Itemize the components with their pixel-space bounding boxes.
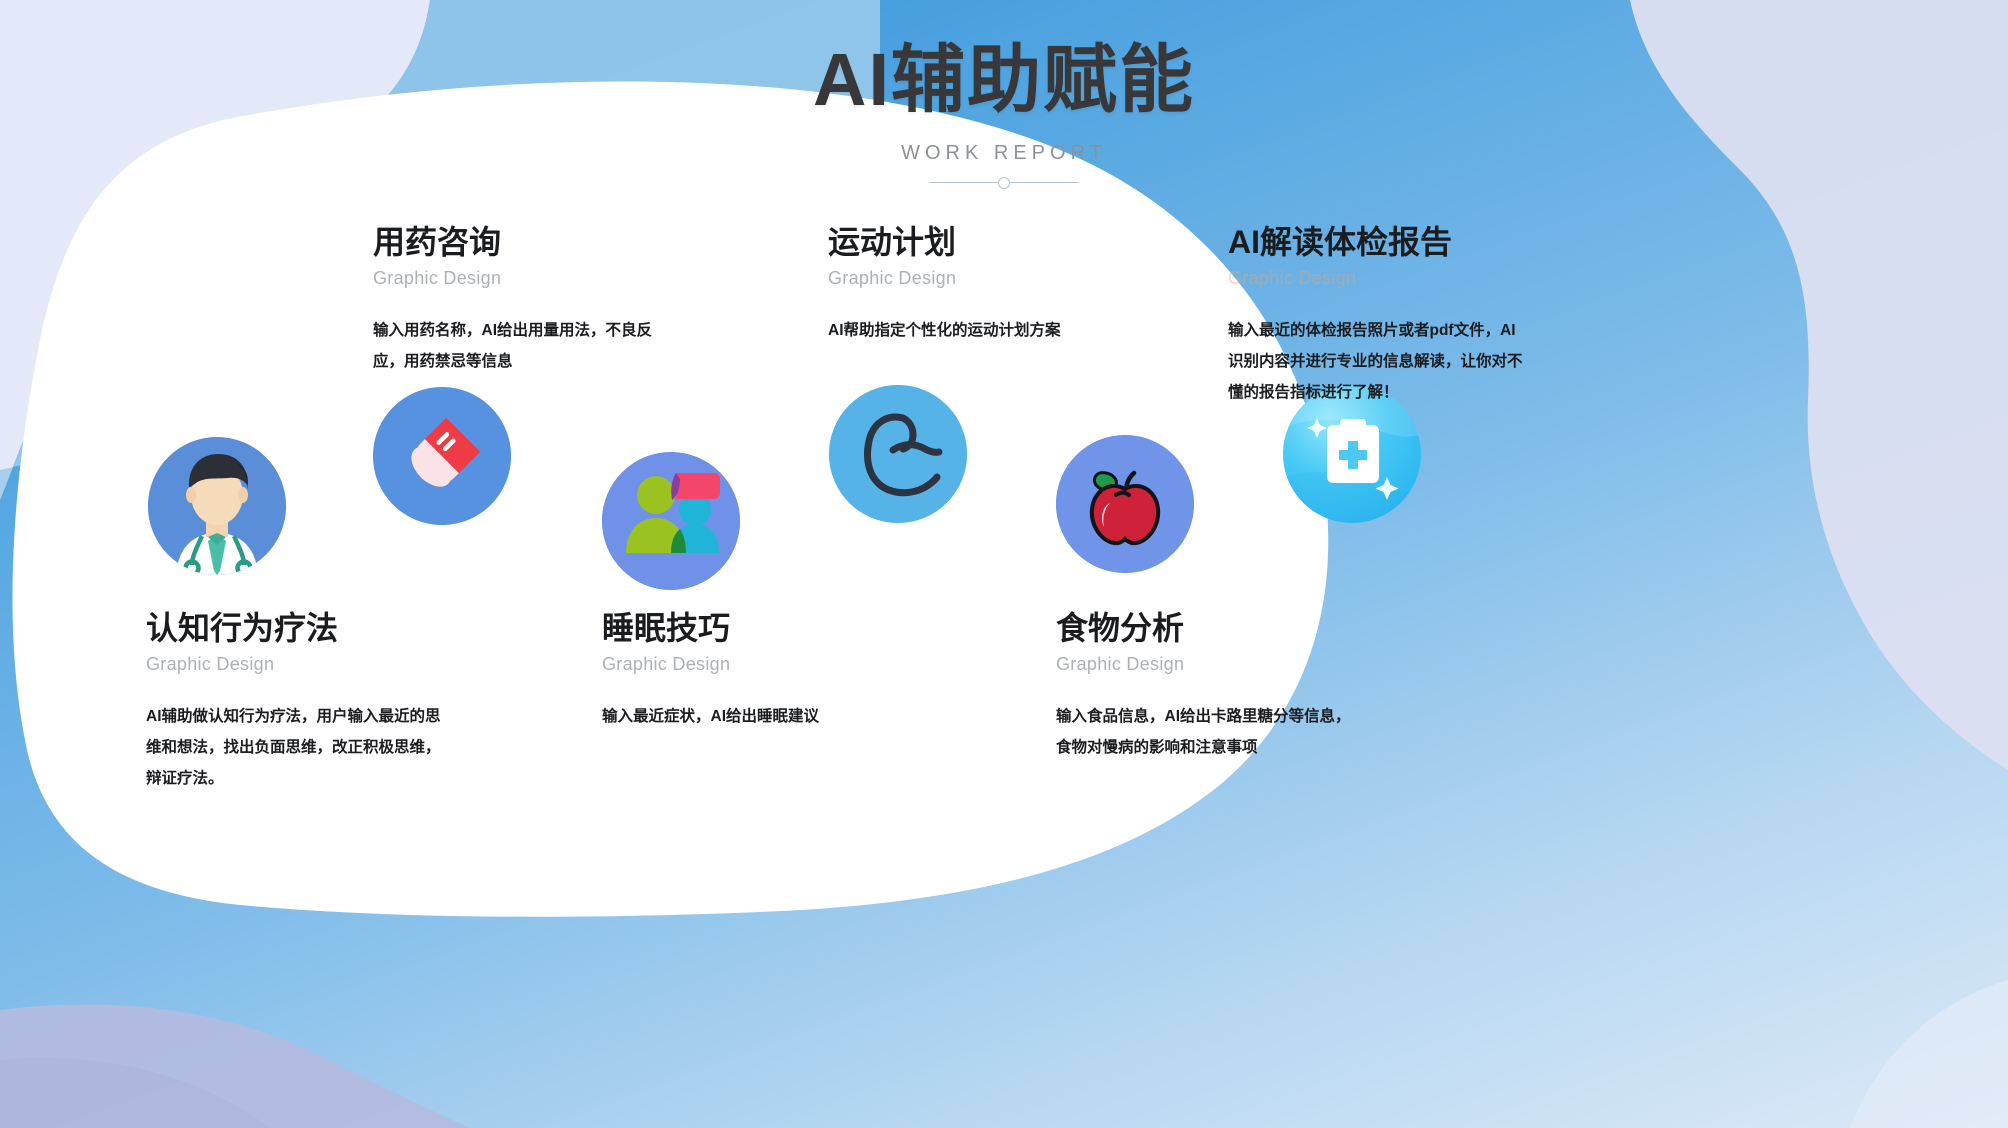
slide-canvas: AI辅助赋能 WORK REPORT (0, 0, 2008, 1128)
pill-capsule-icon[interactable] (373, 387, 511, 525)
card-subtitle: Graphic Design (1056, 654, 1356, 675)
card-title: 认知行为疗法 (146, 608, 446, 648)
card-ai-report-reading: AI解读体检报告 Graphic Design 输入最近的体检报告照片或者pdf… (1228, 222, 1528, 408)
card-sleep-tips: 睡眠技巧 Graphic Design 输入最近症状，AI给出睡眠建议 (602, 608, 862, 732)
card-body: 输入食品信息，AI给出卡路里糖分等信息，食物对慢病的影响和注意事项 (1056, 701, 1356, 763)
red-apple-icon[interactable] (1056, 435, 1194, 573)
slide-header: AI辅助赋能 WORK REPORT (0, 40, 2008, 189)
card-title: 用药咨询 (373, 222, 673, 262)
card-food-analysis: 食物分析 Graphic Design 输入食品信息，AI给出卡路里糖分等信息，… (1056, 608, 1356, 763)
two-people-speech-icon[interactable] (602, 452, 740, 590)
card-subtitle: Graphic Design (146, 654, 446, 675)
card-title: 运动计划 (828, 222, 1088, 262)
card-title: AI解读体检报告 (1228, 222, 1528, 262)
card-subtitle: Graphic Design (602, 654, 862, 675)
card-body: 输入最近症状，AI给出睡眠建议 (602, 701, 862, 732)
doctor-avatar-icon[interactable] (148, 437, 286, 575)
blob-pale-bottomright (1850, 980, 2008, 1128)
card-title: 食物分析 (1056, 608, 1356, 648)
page-title: AI辅助赋能 (0, 40, 2008, 120)
card-body: 输入用药名称，AI给出用量用法，不良反应，用药禁忌等信息 (373, 315, 673, 377)
card-subtitle: Graphic Design (1228, 268, 1528, 289)
card-title: 睡眠技巧 (602, 608, 862, 648)
card-body: AI帮助指定个性化的运动计划方案 (828, 315, 1088, 346)
card-body: AI辅助做认知行为疗法，用户输入最近的思维和想法，找出负面思维，改正积极思维，辩… (146, 701, 446, 794)
page-subtitle: WORK REPORT (0, 142, 2008, 165)
flexed-bicep-icon[interactable] (829, 385, 967, 523)
card-cognitive-behavioral-therapy: 认知行为疗法 Graphic Design AI辅助做认知行为疗法，用户输入最近… (146, 608, 446, 794)
card-exercise-plan: 运动计划 Graphic Design AI帮助指定个性化的运动计划方案 (828, 222, 1088, 346)
divider (929, 177, 1079, 189)
divider-dot-icon (998, 177, 1010, 189)
card-subtitle: Graphic Design (373, 268, 673, 289)
card-body: 输入最近的体检报告照片或者pdf文件，AI识别内容并进行专业的信息解读，让你对不… (1228, 315, 1528, 408)
card-medication-consult: 用药咨询 Graphic Design 输入用药名称，AI给出用量用法，不良反应… (373, 222, 673, 377)
card-subtitle: Graphic Design (828, 268, 1088, 289)
